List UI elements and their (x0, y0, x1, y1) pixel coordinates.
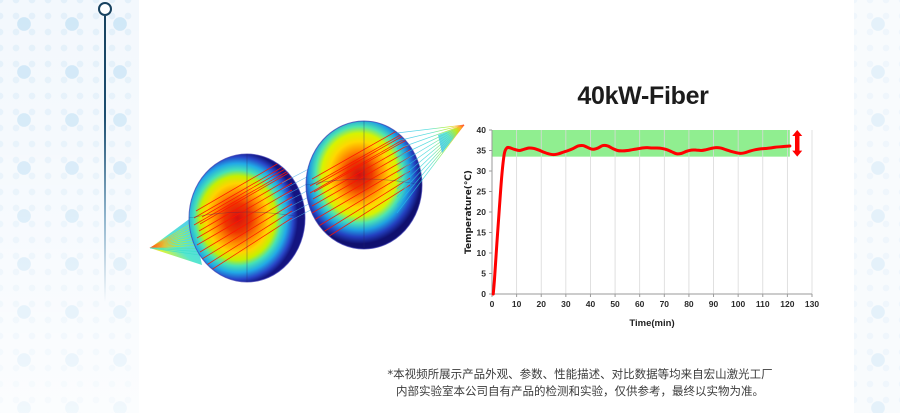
tick-label-x: 50 (610, 299, 620, 309)
tick-label-x: 130 (805, 299, 819, 309)
temperature-chart: 40kW-Fiber 05101520253035400102030405060… (462, 82, 852, 330)
lens-heatmap-left (189, 154, 305, 282)
tick-label-y: 0 (481, 289, 486, 299)
tick-label-x: 40 (586, 299, 596, 309)
axis-label-y: Temperature(℃) (464, 170, 474, 254)
disclaimer-line-1: *本视频所展示产品外观、参数、性能描述、对比数据等均来自宏山激光工厂 (330, 366, 830, 383)
chart-title: 40kW-Fiber (462, 82, 824, 111)
tick-label-x: 80 (684, 299, 694, 309)
lens-heatmap-right (306, 121, 422, 249)
tick-label-y: 15 (477, 228, 487, 238)
tick-label-x: 20 (536, 299, 546, 309)
tick-label-x: 120 (780, 299, 794, 309)
tick-label-y: 5 (481, 269, 486, 279)
tick-label-y: 10 (477, 248, 487, 258)
optics-simulation-figure (142, 105, 472, 305)
tick-label-y: 40 (477, 125, 487, 135)
tick-label-y: 20 (477, 207, 487, 217)
slide-stage: 40kW-Fiber 05101520253035400102030405060… (0, 0, 900, 413)
disclaimer-text: *本视频所展示产品外观、参数、性能描述、对比数据等均来自宏山激光工厂 内部实验室… (330, 366, 830, 400)
tick-label-x: 100 (731, 299, 745, 309)
tick-label-y: 35 (477, 146, 487, 156)
chart-svg: 0510152025303540010203040506070809010011… (462, 124, 852, 330)
dot-pattern-band-left (0, 0, 139, 413)
tick-label-y: 30 (477, 166, 487, 176)
chart-plot-area: 0510152025303540010203040506070809010011… (462, 124, 852, 330)
tick-label-x: 10 (512, 299, 522, 309)
axis-label-x: Time(min) (629, 318, 674, 329)
tick-label-x: 0 (490, 299, 495, 309)
dot-pattern-band-right (854, 0, 900, 413)
disclaimer-line-2: 内部实验室本公司自有产品的检测和实验，仅供参考，最终以实物为准。 (330, 383, 830, 400)
tick-label-x: 70 (660, 299, 670, 309)
tick-label-y: 25 (477, 187, 487, 197)
tick-label-x: 110 (756, 299, 770, 309)
tick-label-x: 30 (561, 299, 571, 309)
tick-label-x: 90 (709, 299, 719, 309)
optics-simulation-svg (142, 105, 472, 305)
tick-label-x: 60 (635, 299, 645, 309)
